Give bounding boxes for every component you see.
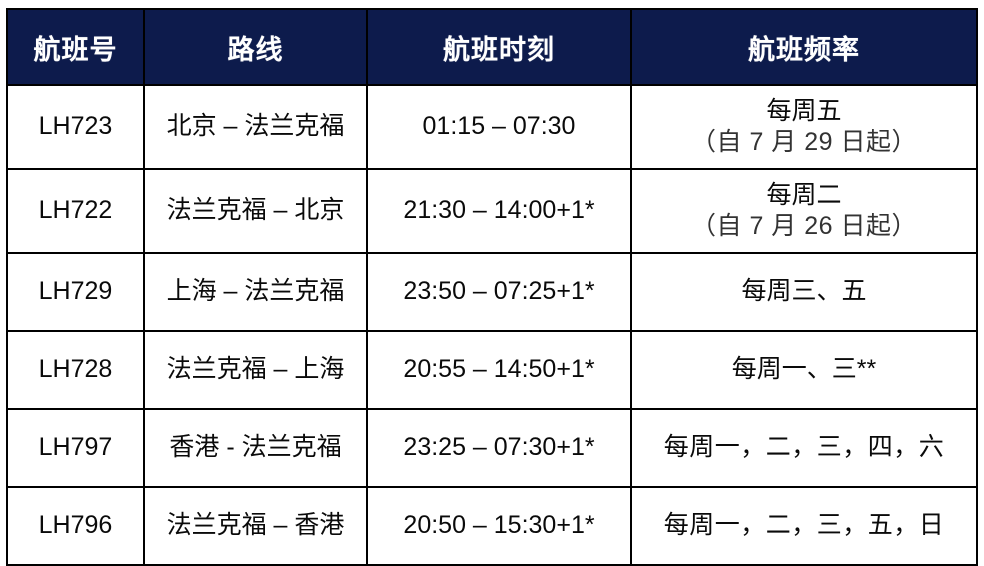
cell-route: 北京 – 法兰克福 [144, 85, 367, 169]
flight-number-value: LH722 [12, 195, 139, 226]
cell-route: 法兰克福 – 北京 [144, 169, 367, 253]
cell-flight-number: LH722 [7, 169, 144, 253]
cell-flight-number: LH729 [7, 253, 144, 331]
cell-frequency: 每周三、五 [631, 253, 977, 331]
route-value: 香港 - 法兰克福 [149, 432, 362, 463]
cell-schedule: 23:25 – 07:30+1* [367, 409, 631, 487]
table-header-row: 航班号 路线 航班时刻 航班频率 [7, 9, 977, 85]
schedule-value: 23:25 – 07:30+1* [372, 432, 626, 463]
flight-schedule-table: 航班号 路线 航班时刻 航班频率 LH723 北京 – 法兰克福 01:15 –… [6, 8, 978, 566]
table-row: LH722 法兰克福 – 北京 21:30 – 14:00+1* 每周二 （自 … [7, 169, 977, 253]
cell-frequency: 每周二 （自 7 月 26 日起） [631, 169, 977, 253]
cell-route: 香港 - 法兰克福 [144, 409, 367, 487]
column-header-route: 路线 [144, 9, 367, 85]
flight-number-value: LH728 [12, 354, 139, 385]
frequency-value: 每周三、五 [636, 276, 972, 307]
cell-frequency: 每周一，二，三，五，日 [631, 487, 977, 565]
cell-flight-number: LH796 [7, 487, 144, 565]
route-value: 北京 – 法兰克福 [149, 111, 362, 142]
column-header-frequency-label: 航班频率 [748, 28, 860, 67]
frequency-value: 每周二 [636, 180, 972, 211]
flight-number-value: LH723 [12, 111, 139, 142]
frequency-value: 每周一，二，三，五，日 [636, 510, 972, 541]
cell-frequency: 每周五 （自 7 月 29 日起） [631, 85, 977, 169]
schedule-value: 21:30 – 14:00+1* [372, 195, 626, 226]
cell-schedule: 01:15 – 07:30 [367, 85, 631, 169]
table-row: LH723 北京 – 法兰克福 01:15 – 07:30 每周五 （自 7 月… [7, 85, 977, 169]
cell-schedule: 20:55 – 14:50+1* [367, 331, 631, 409]
flight-number-value: LH729 [12, 276, 139, 307]
cell-flight-number: LH723 [7, 85, 144, 169]
frequency-value: 每周五 [636, 96, 972, 127]
frequency-value: 每周一、三** [636, 354, 972, 385]
table-row: LH796 法兰克福 – 香港 20:50 – 15:30+1* 每周一，二，三… [7, 487, 977, 565]
cell-frequency: 每周一、三** [631, 331, 977, 409]
frequency-value: 每周一，二，三，四，六 [636, 432, 972, 463]
cell-frequency: 每周一，二，三，四，六 [631, 409, 977, 487]
table-row: LH797 香港 - 法兰克福 23:25 – 07:30+1* 每周一，二，三… [7, 409, 977, 487]
cell-route: 法兰克福 – 上海 [144, 331, 367, 409]
column-header-schedule-label: 航班时刻 [443, 28, 555, 67]
table-body: LH723 北京 – 法兰克福 01:15 – 07:30 每周五 （自 7 月… [7, 85, 977, 565]
cell-flight-number: LH728 [7, 331, 144, 409]
column-header-flight-number: 航班号 [7, 9, 144, 85]
schedule-value: 20:55 – 14:50+1* [372, 354, 626, 385]
column-header-route-label: 路线 [228, 28, 284, 67]
schedule-value: 20:50 – 15:30+1* [372, 510, 626, 541]
table-row: LH729 上海 – 法兰克福 23:50 – 07:25+1* 每周三、五 [7, 253, 977, 331]
route-value: 法兰克福 – 北京 [149, 195, 362, 226]
cell-schedule: 20:50 – 15:30+1* [367, 487, 631, 565]
column-header-frequency: 航班频率 [631, 9, 977, 85]
route-value: 法兰克福 – 香港 [149, 510, 362, 541]
frequency-note: （自 7 月 29 日起） [636, 127, 972, 158]
route-value: 上海 – 法兰克福 [149, 276, 362, 307]
route-value: 法兰克福 – 上海 [149, 354, 362, 385]
schedule-value: 23:50 – 07:25+1* [372, 276, 626, 307]
table-header: 航班号 路线 航班时刻 航班频率 [7, 9, 977, 85]
flight-number-value: LH797 [12, 432, 139, 463]
schedule-value: 01:15 – 07:30 [372, 111, 626, 142]
cell-flight-number: LH797 [7, 409, 144, 487]
frequency-note: （自 7 月 26 日起） [636, 211, 972, 242]
cell-schedule: 23:50 – 07:25+1* [367, 253, 631, 331]
cell-route: 上海 – 法兰克福 [144, 253, 367, 331]
table-row: LH728 法兰克福 – 上海 20:55 – 14:50+1* 每周一、三** [7, 331, 977, 409]
flight-number-value: LH796 [12, 510, 139, 541]
flight-schedule-table-container: 航班号 路线 航班时刻 航班频率 LH723 北京 – 法兰克福 01:15 –… [6, 8, 976, 523]
cell-route: 法兰克福 – 香港 [144, 487, 367, 565]
column-header-flight-number-label: 航班号 [34, 28, 118, 67]
cell-schedule: 21:30 – 14:00+1* [367, 169, 631, 253]
column-header-schedule: 航班时刻 [367, 9, 631, 85]
